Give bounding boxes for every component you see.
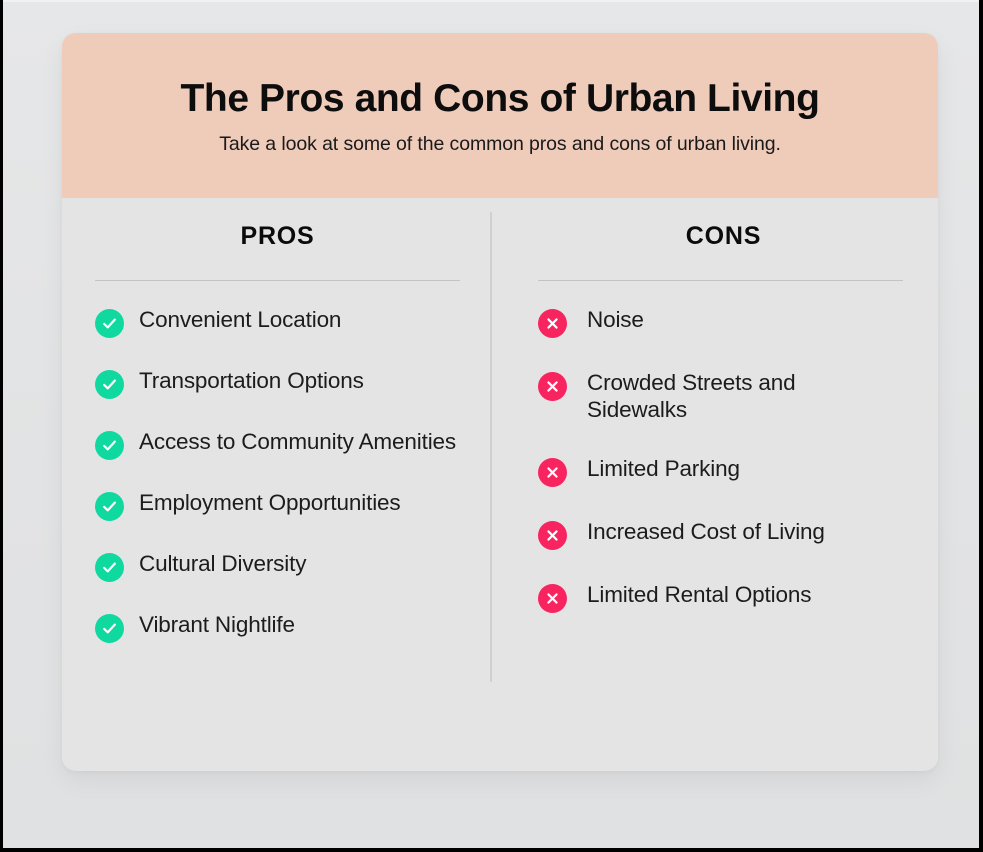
list-item[interactable]: Access to Community Amenities xyxy=(95,428,460,460)
list-item-label: Convenient Location xyxy=(139,306,341,333)
list-item[interactable]: Crowded Streets and Sidewalks xyxy=(538,369,903,424)
list-item[interactable]: Convenient Location xyxy=(95,306,460,338)
list-item-label: Transportation Options xyxy=(139,367,364,394)
check-circle-icon xyxy=(95,370,124,399)
x-circle-icon xyxy=(538,458,567,487)
pros-cons-card: The Pros and Cons of Urban Living Take a… xyxy=(62,33,938,771)
list-item[interactable]: Cultural Diversity xyxy=(95,550,460,582)
pros-heading: PROS xyxy=(95,220,460,249)
cons-heading: CONS xyxy=(538,220,903,249)
list-item-label: Cultural Diversity xyxy=(139,550,306,577)
check-circle-icon xyxy=(95,614,124,643)
list-item[interactable]: Noise xyxy=(538,306,903,338)
frame-edge-bottom xyxy=(0,848,983,852)
cons-list: Noise Crowded Streets and Sidewalks xyxy=(538,306,903,613)
list-item-label: Access to Community Amenities xyxy=(139,428,456,455)
page-background: The Pros and Cons of Urban Living Take a… xyxy=(0,0,983,852)
check-circle-icon xyxy=(95,553,124,582)
list-item[interactable]: Limited Rental Options xyxy=(538,581,903,613)
list-item[interactable]: Vibrant Nightlife xyxy=(95,611,460,643)
page-subtitle: Take a look at some of the common pros a… xyxy=(219,133,781,156)
check-circle-icon xyxy=(95,492,124,521)
list-item-label: Crowded Streets and Sidewalks xyxy=(587,369,887,424)
x-circle-icon xyxy=(538,372,567,401)
x-circle-icon xyxy=(538,584,567,613)
list-item-label: Employment Opportunities xyxy=(139,489,401,516)
cons-column: CONS Noise xyxy=(482,198,938,771)
frame-edge-right xyxy=(979,0,983,852)
frame-top-hairline xyxy=(0,0,983,2)
cons-rule xyxy=(538,280,903,281)
page-title: The Pros and Cons of Urban Living xyxy=(180,78,819,121)
list-item-label: Increased Cost of Living xyxy=(587,518,825,545)
check-circle-icon xyxy=(95,309,124,338)
list-item[interactable]: Transportation Options xyxy=(95,367,460,399)
list-item-label: Limited Parking xyxy=(587,455,740,482)
list-item[interactable]: Limited Parking xyxy=(538,455,903,487)
frame-edge-left xyxy=(0,0,3,852)
x-circle-icon xyxy=(538,521,567,550)
list-item-label: Noise xyxy=(587,306,644,333)
list-item-label: Vibrant Nightlife xyxy=(139,611,295,638)
card-body: PROS Convenient Location xyxy=(62,198,938,771)
list-item-label: Limited Rental Options xyxy=(587,581,811,608)
list-item[interactable]: Employment Opportunities xyxy=(95,489,460,521)
pros-rule xyxy=(95,280,460,281)
pros-column: PROS Convenient Location xyxy=(62,198,482,771)
check-circle-icon xyxy=(95,431,124,460)
pros-list: Convenient Location Transportation Optio… xyxy=(95,306,460,643)
card-header: The Pros and Cons of Urban Living Take a… xyxy=(62,33,938,198)
list-item[interactable]: Increased Cost of Living xyxy=(538,518,903,550)
x-circle-icon xyxy=(538,309,567,338)
